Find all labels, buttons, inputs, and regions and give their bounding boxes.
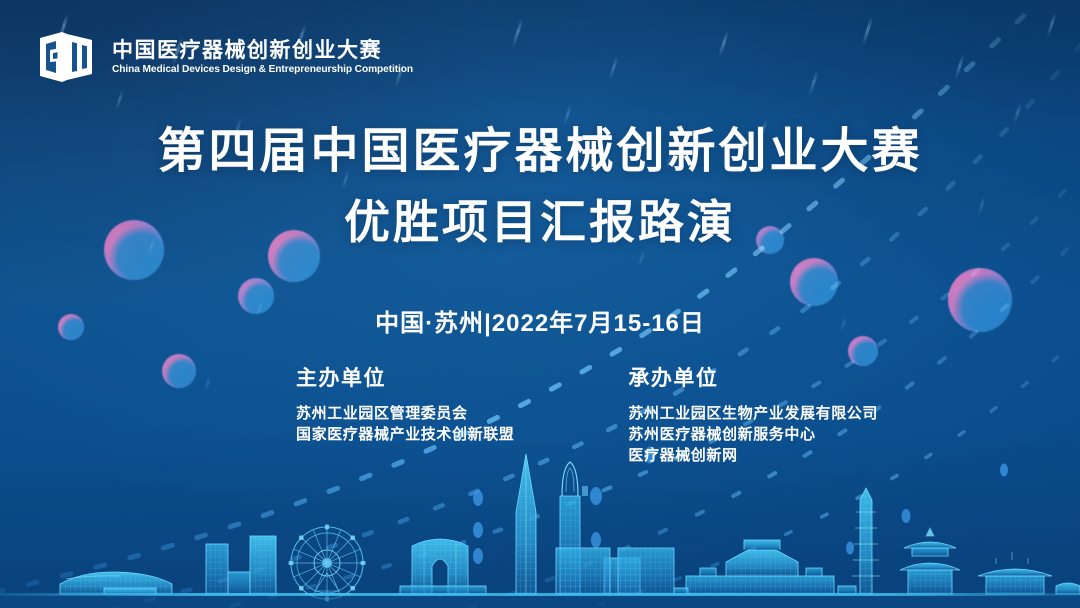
title-line-2: 优胜项目汇报路演 <box>0 195 1080 249</box>
page-title: 第四届中国医疗器械创新创业大赛 优胜项目汇报路演 <box>0 124 1080 249</box>
brand-name-en: China Medical Devices Design & Entrepren… <box>112 64 413 75</box>
suzhou-city-skyline <box>0 448 1080 608</box>
organizer-item: 苏州医疗器械创新服务中心 <box>628 424 878 445</box>
brand-text: 中国医疗器械创新创业大赛 China Medical Devices Desig… <box>112 40 422 75</box>
sphere-small <box>848 336 878 366</box>
event-poster: 中国医疗器械创新创业大赛 China Medical Devices Desig… <box>0 0 1080 608</box>
brand-name-cn: 中国医疗器械创新创业大赛 <box>112 40 422 61</box>
brand-logo: 中国医疗器械创新创业大赛 China Medical Devices Desig… <box>36 28 422 86</box>
sphere-medium <box>790 258 838 306</box>
organizer-heading: 主办单位 <box>296 368 514 389</box>
organizer-item: 国家医疗器械产业技术创新联盟 <box>296 424 514 445</box>
title-line-1: 第四届中国医疗器械创新创业大赛 <box>0 124 1080 181</box>
sphere-crescent <box>162 354 196 388</box>
organizer-item: 苏州工业园区管理委员会 <box>296 403 514 424</box>
event-location-date: 中国·苏州|2022年7月15-16日 <box>0 303 1080 338</box>
organizer-heading: 承办单位 <box>628 368 878 389</box>
open-door-logo-icon <box>36 28 98 86</box>
organizer-item: 苏州工业园区生物产业发展有限公司 <box>628 403 878 424</box>
